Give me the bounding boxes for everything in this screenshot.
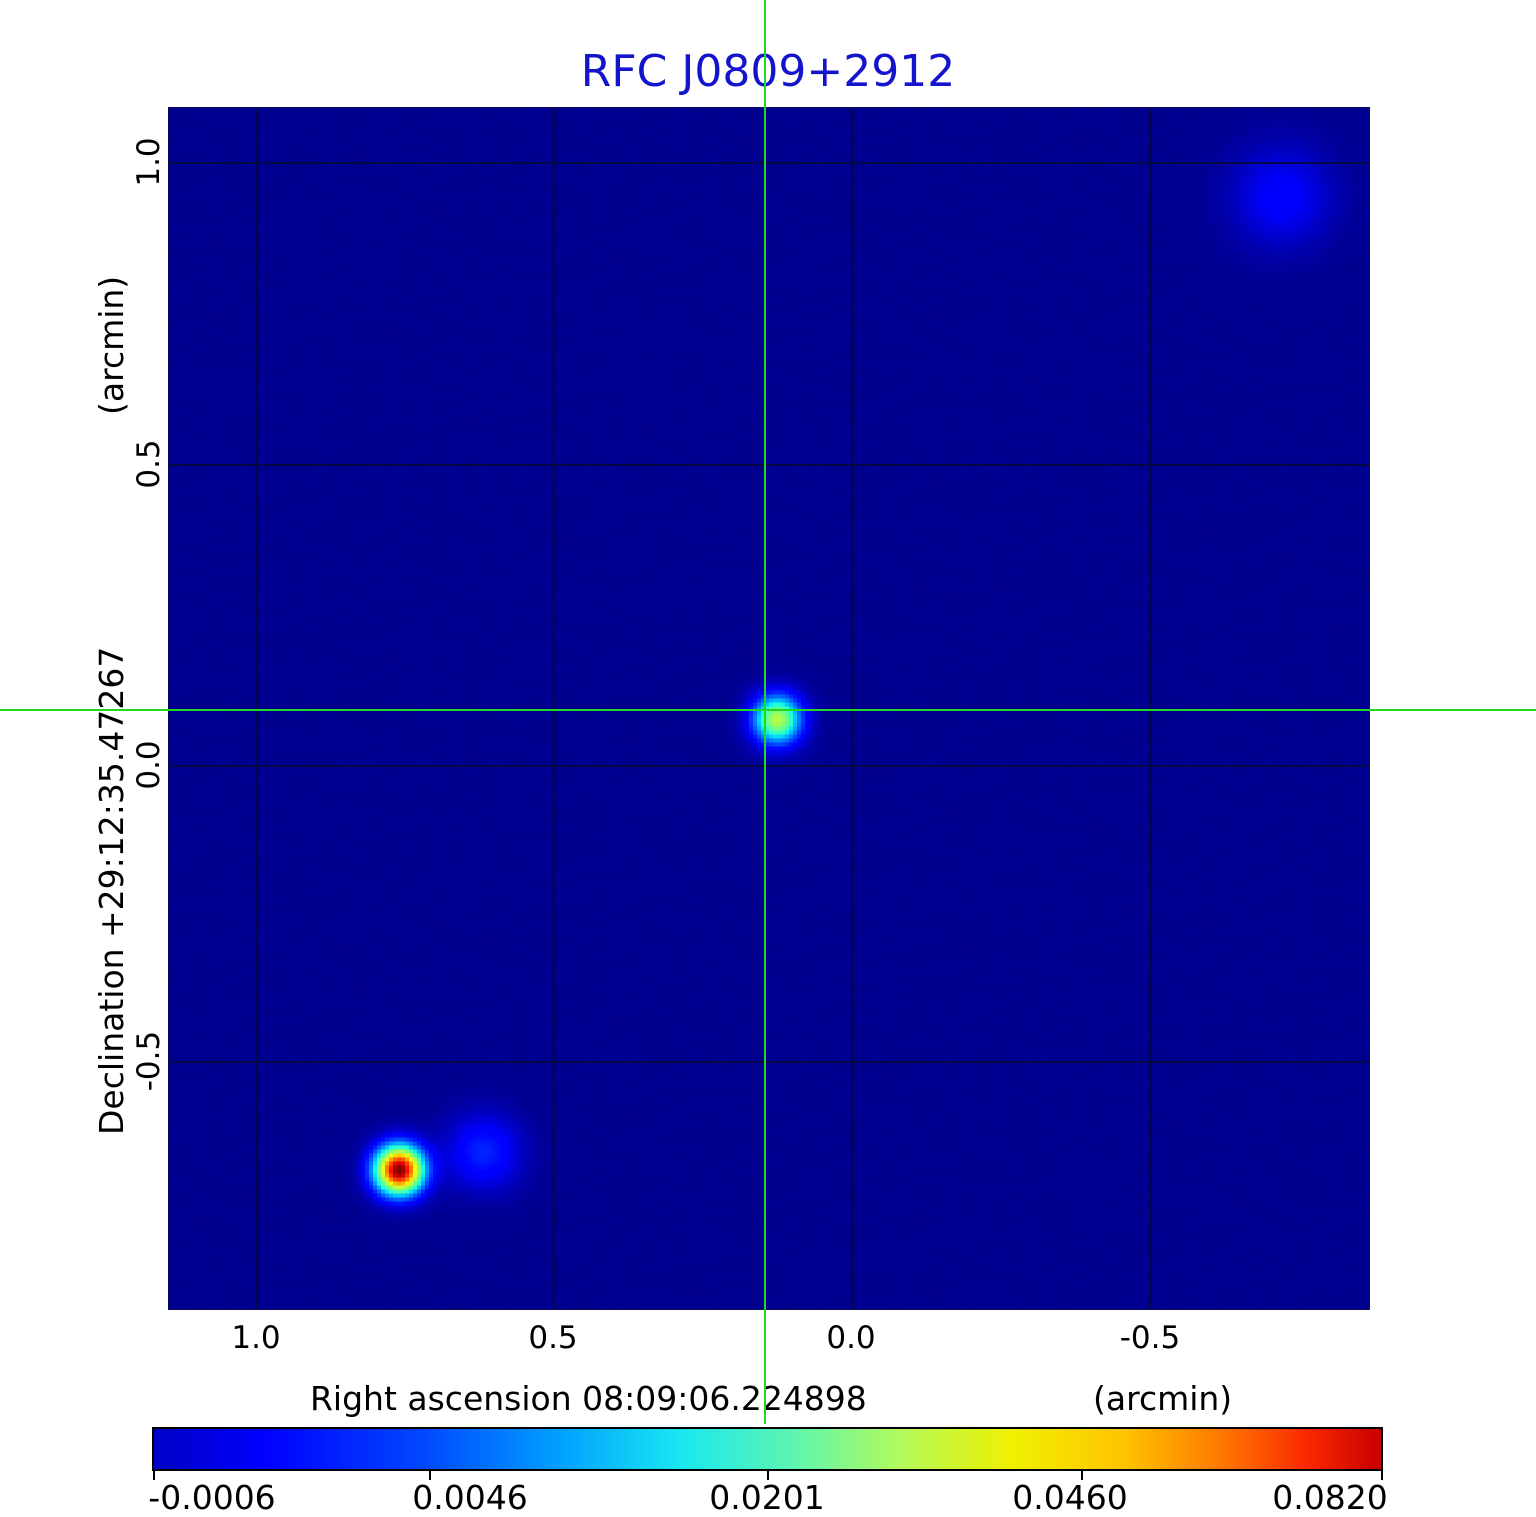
- colorbar-label-5: 0.0820: [1272, 1478, 1387, 1517]
- gridline-dec-0p5: [169, 464, 1369, 466]
- gridline-dec-1p0: [169, 162, 1369, 164]
- ytick-label-3: 0.0: [131, 740, 167, 789]
- xtick-label-1: 1.0: [231, 1320, 280, 1356]
- ytick-label-1: 1.0: [131, 137, 167, 186]
- colorbar-label-1: -0.0006: [148, 1478, 275, 1517]
- x-axis-unit-label: (arcmin): [1093, 1379, 1232, 1418]
- page-title: RFC J0809+2912: [0, 46, 1536, 98]
- crosshair-horizontal-line: [0, 709, 1536, 711]
- xtick-label-2: 0.5: [528, 1320, 577, 1356]
- colorbar-label-2: 0.0046: [412, 1478, 527, 1517]
- crosshair-vertical-line: [764, 0, 766, 1424]
- ytick-label-4: -0.5: [131, 1031, 167, 1092]
- xtick-label-4: -0.5: [1120, 1320, 1181, 1356]
- xtick-label-3: 0.0: [826, 1320, 875, 1356]
- y-axis-label: Declination +29:12:35.47267: [92, 647, 131, 1135]
- colorbar[interactable]: [152, 1427, 1383, 1471]
- ytick-label-2: 0.5: [131, 439, 167, 488]
- y-axis-unit-label: (arcmin): [92, 276, 131, 415]
- gridline-dec-0p0: [169, 765, 1369, 767]
- x-axis-label: Right ascension 08:09:06.224898: [310, 1379, 867, 1418]
- colorbar-label-3: 0.0201: [709, 1478, 824, 1517]
- gridline-dec-m0p5: [169, 1061, 1369, 1063]
- colorbar-label-4: 0.0460: [1012, 1478, 1127, 1517]
